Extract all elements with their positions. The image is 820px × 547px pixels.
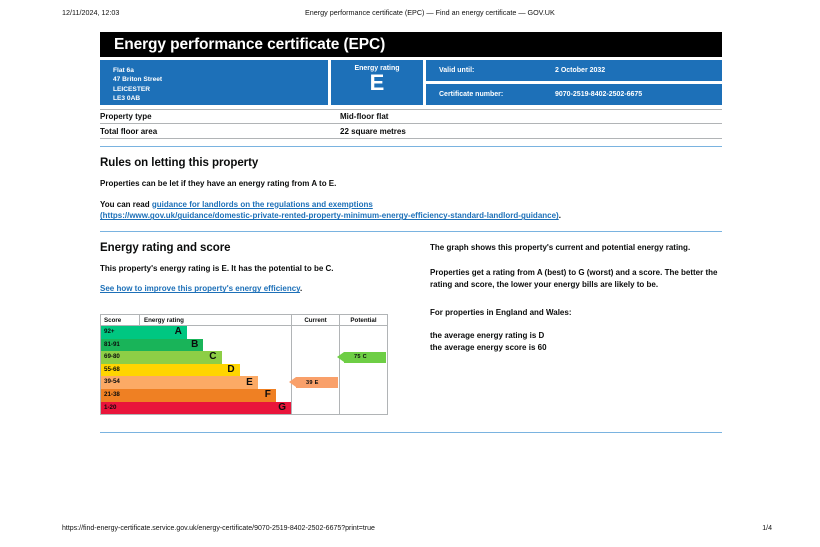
- rating-paragraph: This property's energy rating is E. It h…: [100, 263, 430, 275]
- certificate-number-row: Certificate number: 9070-2519-8402-2502-…: [426, 84, 722, 105]
- rating-heading: Energy rating and score: [100, 242, 430, 254]
- valid-until-row: Valid until: 2 October 2032: [426, 60, 722, 81]
- rating-scale-bold: Properties get a rating from A (best) to…: [430, 268, 662, 277]
- print-footer-page: 1/4: [762, 525, 772, 532]
- epc-band-score-b: 81-91: [101, 339, 140, 352]
- floor-area-label: Total floor area: [100, 127, 340, 136]
- epc-band-list: 92+A81-91B69-80C55-68D39-54E21-38F1-20G: [101, 326, 291, 414]
- epc-potential-column: 75 C: [339, 326, 387, 414]
- epc-potential-rating-marker: 75 C: [344, 352, 386, 363]
- rules-paragraph-1: Properties can be let if they have an en…: [100, 178, 722, 190]
- epc-band-score-g: 1-20: [101, 402, 140, 415]
- england-wales-intro: For properties in England and Wales:: [430, 307, 722, 319]
- rating-right-column: The graph shows this property's current …: [430, 241, 722, 415]
- epc-band-c: 69-80C: [101, 351, 291, 364]
- england-wales-averages: the average energy rating is D the avera…: [430, 330, 722, 353]
- improve-link-paragraph: See how to improve this property's energ…: [100, 283, 430, 295]
- epc-band-bar-d: D: [140, 364, 240, 377]
- epc-band-letter-f: F: [265, 390, 271, 400]
- print-header-title: Energy performance certificate (EPC) — F…: [305, 8, 555, 17]
- epc-band-bar-e: E: [140, 376, 258, 389]
- print-footer: https://find-energy-certificate.service.…: [0, 525, 820, 537]
- energy-rating-badge: Energy rating E: [331, 60, 423, 105]
- improve-link-suffix: .: [300, 284, 302, 293]
- table-row: Property type Mid-floor flat: [100, 109, 722, 124]
- certificate-sheet: Energy performance certificate (EPC) Fla…: [100, 32, 722, 433]
- summary-panel: Flat 6a 47 Briton Street LEICESTER LE3 0…: [100, 60, 722, 105]
- page-title: Energy performance certificate (EPC): [114, 36, 385, 54]
- epc-band-g: 1-20G: [101, 402, 291, 415]
- energy-rating-letter: E: [331, 71, 423, 94]
- epc-header-rating: Energy rating: [140, 315, 291, 325]
- certificate-meta: Valid until: 2 October 2032 Certificate …: [426, 60, 722, 105]
- epc-band-letter-c: C: [209, 352, 216, 362]
- epc-band-a: 92+A: [101, 326, 291, 339]
- epc-chart-body: 92+A81-91B69-80C55-68D39-54E21-38F1-20G …: [101, 326, 387, 414]
- divider: [100, 231, 722, 232]
- landlord-guidance-link[interactable]: guidance for landlords on the regulation…: [152, 200, 373, 209]
- rules-paragraph-2: You can read guidance for landlords on t…: [100, 199, 722, 222]
- rules-text-prefix: You can read: [100, 200, 152, 209]
- epc-band-bar-g: G: [140, 402, 291, 415]
- epc-band-b: 81-91B: [101, 339, 291, 352]
- epc-band-score-e: 39-54: [101, 376, 140, 389]
- epc-band-bar-f: F: [140, 389, 276, 402]
- property-details-table: Property type Mid-floor flat Total floor…: [100, 109, 722, 139]
- valid-until-value: 2 October 2032: [555, 67, 605, 74]
- rules-text-suffix: .: [559, 211, 561, 220]
- epc-header-current: Current: [291, 315, 339, 325]
- address-line-3: LEICESTER: [113, 85, 328, 94]
- epc-band-bar-b: B: [140, 339, 203, 352]
- print-footer-url: https://find-energy-certificate.service.…: [62, 525, 375, 532]
- property-type-label: Property type: [100, 112, 340, 121]
- epc-band-score-f: 21-38: [101, 389, 140, 402]
- epc-band-d: 55-68D: [101, 364, 291, 377]
- rating-and-score-section: Energy rating and score This property's …: [100, 241, 722, 415]
- valid-until-label: Valid until:: [439, 67, 555, 74]
- epc-band-f: 21-38F: [101, 389, 291, 402]
- property-type-value: Mid-floor flat: [340, 112, 388, 121]
- epc-band-score-a: 92+: [101, 326, 140, 339]
- epc-header-potential: Potential: [339, 315, 387, 325]
- print-header-date: 12/11/2024, 12:03: [62, 8, 119, 17]
- epc-header-score: Score: [101, 315, 140, 325]
- certificate-number-label: Certificate number:: [439, 91, 555, 98]
- epc-band-letter-a: A: [175, 327, 182, 337]
- divider: [100, 432, 722, 433]
- epc-band-letter-g: G: [278, 403, 286, 413]
- epc-band-score-d: 55-68: [101, 364, 140, 377]
- rules-heading: Rules on letting this property: [100, 157, 722, 169]
- average-rating-text: the average energy rating is D: [430, 331, 544, 340]
- address-line-2: 47 Briton Street: [113, 75, 328, 84]
- print-header: 12/11/2024, 12:03 Energy performance cer…: [0, 8, 820, 20]
- epc-band-letter-d: D: [227, 365, 234, 375]
- epc-chart-header: Score Energy rating Current Potential: [101, 315, 387, 326]
- epc-band-bar-a: A: [140, 326, 187, 339]
- table-row: Total floor area 22 square metres: [100, 124, 722, 139]
- epc-band-letter-b: B: [191, 340, 198, 350]
- epc-current-column: 39 E: [291, 326, 339, 414]
- address-line-1: Flat 6a: [113, 66, 328, 75]
- certificate-number-value: 9070-2519-8402-2502-6675: [555, 91, 642, 98]
- graph-explainer: The graph shows this property's current …: [430, 242, 722, 254]
- property-address: Flat 6a 47 Briton Street LEICESTER LE3 0…: [100, 60, 328, 105]
- improve-efficiency-link[interactable]: See how to improve this property's energ…: [100, 284, 300, 293]
- divider: [100, 146, 722, 147]
- epc-current-rating-marker: 39 E: [296, 377, 338, 388]
- epc-band-letter-e: E: [246, 378, 253, 388]
- address-line-4: LE3 0AB: [113, 94, 328, 103]
- landlord-guidance-url[interactable]: (https://www.gov.uk/guidance/domestic-pr…: [100, 211, 559, 220]
- rating-left-column: Energy rating and score This property's …: [100, 241, 430, 415]
- floor-area-value: 22 square metres: [340, 127, 406, 136]
- epc-band-score-c: 69-80: [101, 351, 140, 364]
- rating-scale-explainer: Properties get a rating from A (best) to…: [430, 267, 722, 290]
- epc-band-e: 39-54E: [101, 376, 291, 389]
- page-banner: Energy performance certificate (EPC): [100, 32, 722, 57]
- epc-band-bar-c: C: [140, 351, 222, 364]
- average-score-text: the average energy score is 60: [430, 343, 547, 352]
- epc-rating-chart: Score Energy rating Current Potential 92…: [100, 314, 388, 415]
